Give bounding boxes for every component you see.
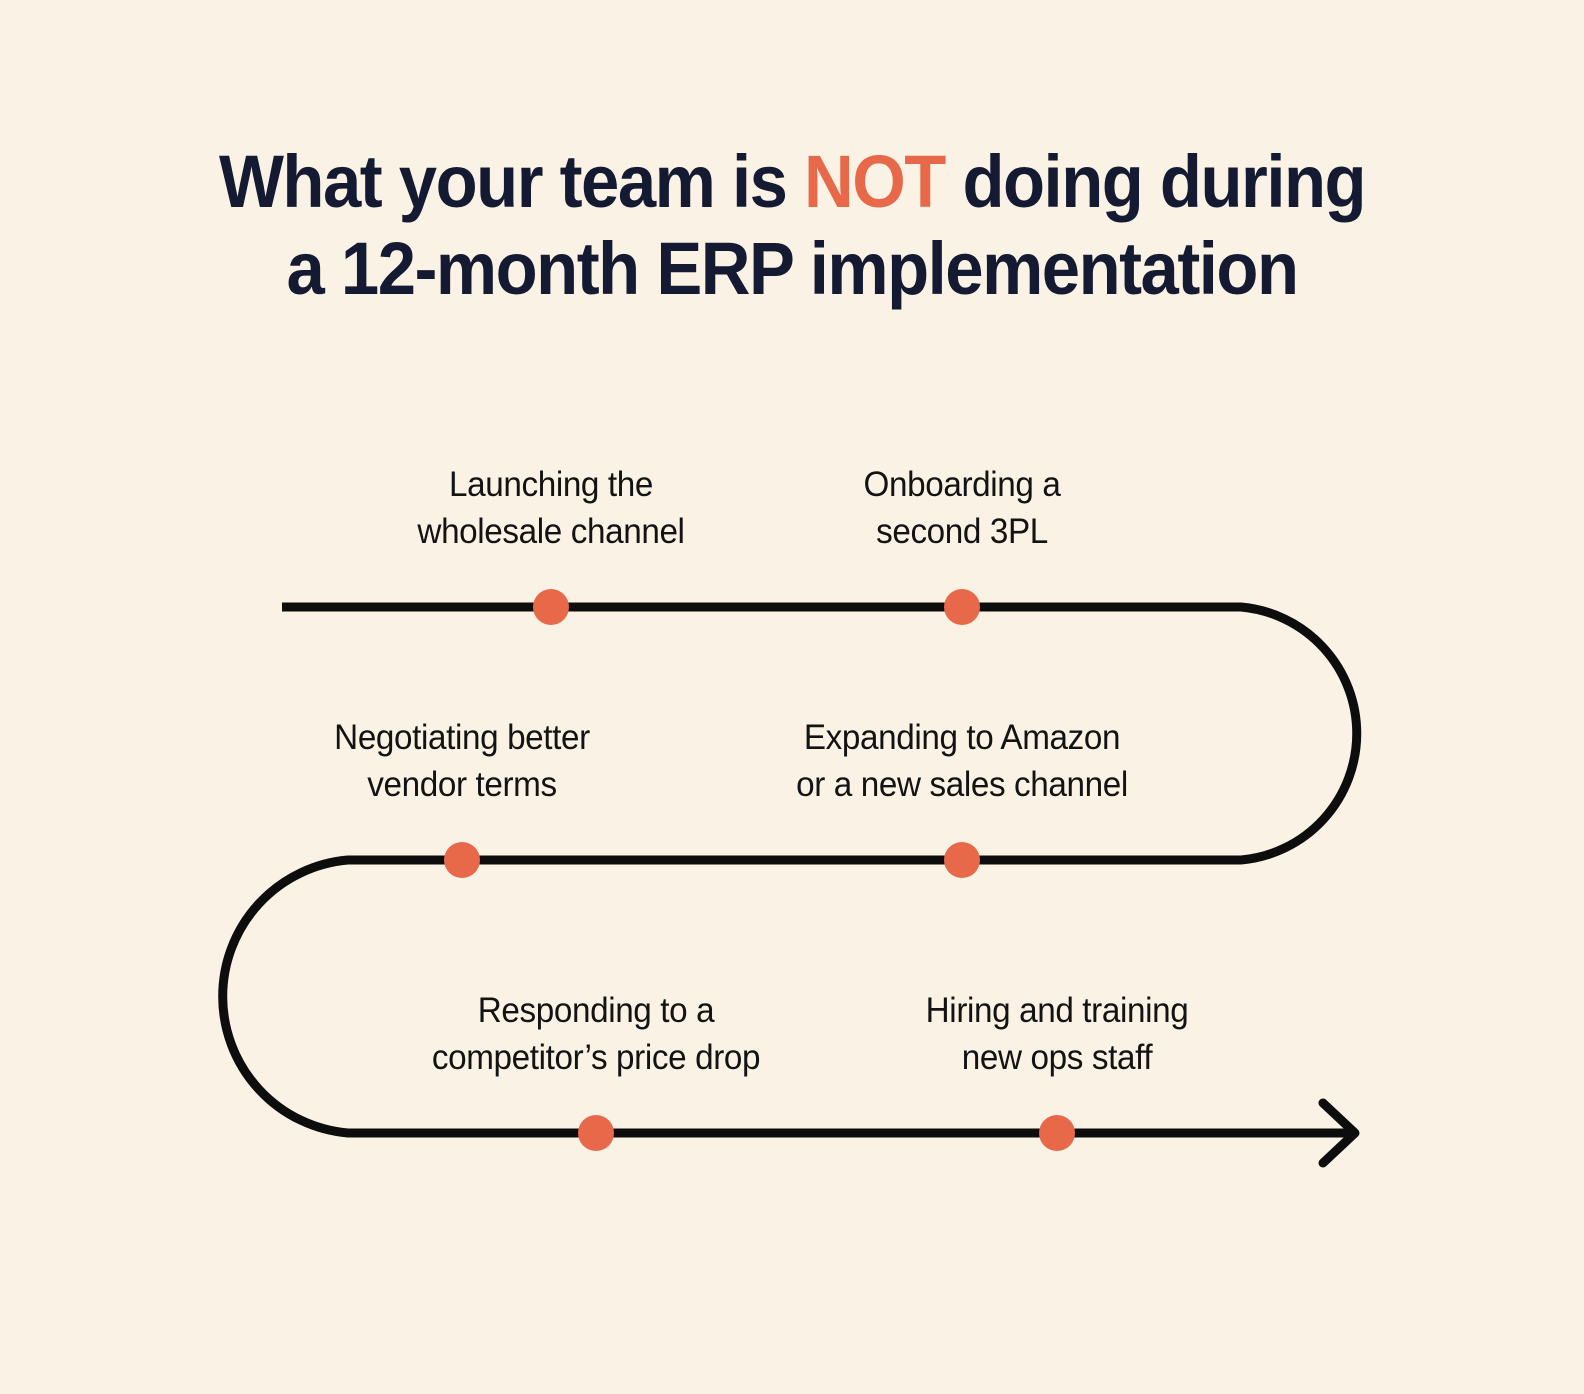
milestone-dot-2[interactable] bbox=[944, 589, 980, 625]
milestone-label-2: Onboarding a second 3PL bbox=[753, 462, 1171, 555]
milestone-label-5: Responding to a competitor’s price drop bbox=[387, 988, 805, 1081]
milestone-dot-1[interactable] bbox=[533, 589, 569, 625]
milestone-label-3-line-2: vendor terms bbox=[253, 762, 671, 809]
milestone-label-2-line-1: Onboarding a bbox=[753, 462, 1171, 509]
infographic-canvas: What your team is NOT doing during a 12-… bbox=[0, 0, 1584, 1394]
milestone-label-2-line-2: second 3PL bbox=[753, 509, 1171, 556]
milestone-dot-4[interactable] bbox=[944, 842, 980, 878]
milestone-dot-5[interactable] bbox=[578, 1115, 614, 1151]
milestone-label-6-line-1: Hiring and training bbox=[848, 988, 1266, 1035]
milestone-dot-3[interactable] bbox=[444, 842, 480, 878]
milestone-label-3: Negotiating better vendor terms bbox=[253, 715, 671, 808]
milestone-label-1-line-1: Launching the bbox=[342, 462, 760, 509]
flow-path-svg bbox=[0, 0, 1584, 1394]
milestone-label-3-line-1: Negotiating better bbox=[253, 715, 671, 762]
serpentine-flow-diagram: Launching the wholesale channel Onboardi… bbox=[0, 0, 1584, 1394]
milestone-dot-6[interactable] bbox=[1039, 1115, 1075, 1151]
milestone-label-6: Hiring and training new ops staff bbox=[848, 988, 1266, 1081]
milestone-label-4-line-2: or a new sales channel bbox=[753, 762, 1171, 809]
milestone-label-4-line-1: Expanding to Amazon bbox=[753, 715, 1171, 762]
milestone-label-5-line-2: competitor’s price drop bbox=[387, 1035, 805, 1082]
milestone-label-4: Expanding to Amazon or a new sales chann… bbox=[753, 715, 1171, 808]
milestone-label-6-line-2: new ops staff bbox=[848, 1035, 1266, 1082]
milestone-label-5-line-1: Responding to a bbox=[387, 988, 805, 1035]
milestone-label-1: Launching the wholesale channel bbox=[342, 462, 760, 555]
milestone-label-1-line-2: wholesale channel bbox=[342, 509, 760, 556]
